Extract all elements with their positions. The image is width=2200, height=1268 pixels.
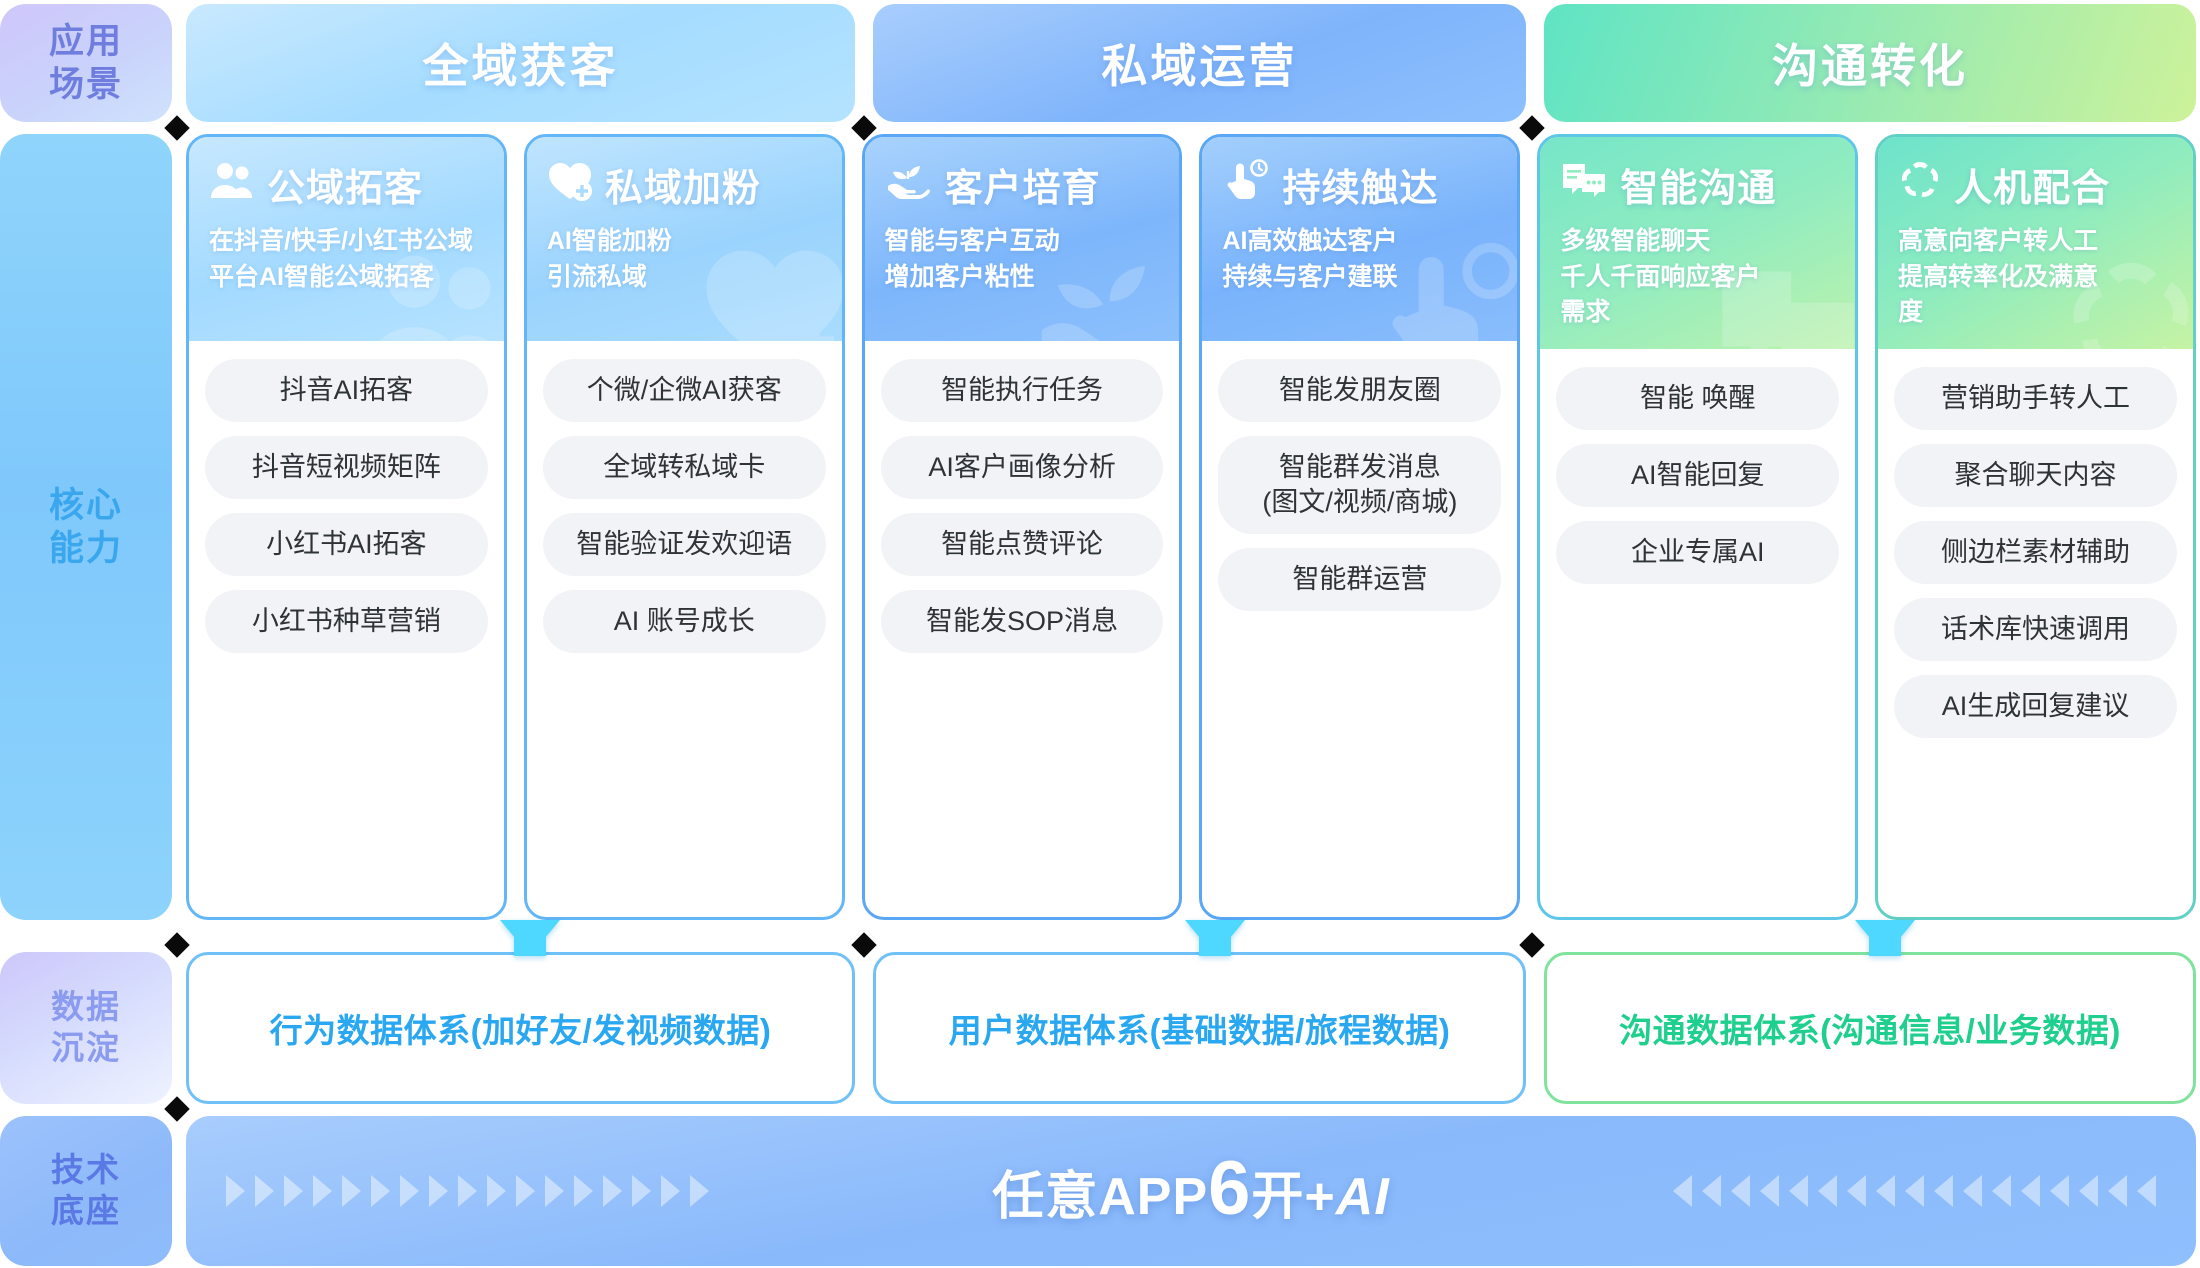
- capability-column-3[interactable]: 客户培育 智能与客户互动增加客户粘性 智能执行任务 AI客户画像分析 智能点赞评…: [862, 134, 1183, 920]
- tech-suffix: AI: [1336, 1167, 1390, 1227]
- pill-list-4: 智能发朋友圈 智能群发消息(图文/视频/商城) 智能群运营: [1202, 341, 1517, 917]
- chevron-left-icon: [2108, 1175, 2127, 1207]
- pill-list-5: 智能 唤醒 AI智能回复 企业专属AI: [1540, 349, 1855, 918]
- column-title-row-6: 人机配合: [1898, 157, 2173, 212]
- pill-item[interactable]: AI客户画像分析: [881, 436, 1164, 499]
- column-title-row-5: 智能沟通: [1560, 157, 1835, 212]
- rail-data-line2: 沉淀: [51, 1028, 121, 1069]
- column-title-row-3: 客户培育: [885, 157, 1160, 212]
- scene-label-3: 沟通转化: [1772, 30, 1968, 96]
- chevron-left-icon: [1818, 1175, 1837, 1207]
- chevron-left-icon: [1673, 1175, 1692, 1207]
- pill-list-2: 个微/企微AI获客 全域转私域卡 智能验证发欢迎语 AI 账号成长: [527, 341, 842, 917]
- chevron-right-icon: [690, 1175, 709, 1207]
- people-icon: [209, 160, 255, 210]
- chevron-right-icon: [429, 1175, 448, 1207]
- chevron-left-icon: [1963, 1175, 1982, 1207]
- rail-label-core: 核心 能力: [0, 134, 172, 920]
- chevron-left-icon: [2079, 1175, 2098, 1207]
- pill-item[interactable]: 抖音短视频矩阵: [205, 436, 488, 499]
- column-desc-1: 在抖音/快手/小红书公域平台AI智能公域拓客: [209, 224, 484, 295]
- chevron-left-icon: [1760, 1175, 1779, 1207]
- scene-label-2: 私域运营: [1102, 30, 1298, 96]
- data-layer-row: 行为数据体系(加好友/发视频数据) 用户数据体系(基础数据/旅程数据) 沟通数据…: [186, 952, 2196, 1104]
- chevron-right-icon: [284, 1175, 303, 1207]
- data-label-3: 沟通数据体系(沟通信息/业务数据): [1619, 1004, 2121, 1052]
- column-title-5: 智能沟通: [1620, 157, 1776, 212]
- capability-column-4[interactable]: 持续触达 AI高效触达客户持续与客户建联 智能发朋友圈 智能群发消息(图文/视频…: [1199, 134, 1520, 920]
- column-header-3: 客户培育 智能与客户互动增加客户粘性: [865, 137, 1180, 341]
- pill-list-1: 抖音AI拓客 抖音短视频矩阵 小红书AI拓客 小红书种草营销: [189, 341, 504, 917]
- chat-bubbles-icon: [1560, 160, 1608, 210]
- capability-column-2[interactable]: 私域加粉 AI智能加粉引流私域 个微/企微AI获客 全域转私域卡 智能验证发欢迎…: [524, 134, 845, 920]
- chevron-right-icon: [458, 1175, 477, 1207]
- chevron-right-icon: [487, 1175, 506, 1207]
- pill-item[interactable]: 侧边栏素材辅助: [1894, 521, 2177, 584]
- chevron-left-icon: [1847, 1175, 1866, 1207]
- pill-item[interactable]: 小红书种草营销: [205, 590, 488, 653]
- column-title-3: 客户培育: [945, 157, 1101, 212]
- chevron-right-icon: [632, 1175, 651, 1207]
- pill-item[interactable]: 智能点赞评论: [881, 513, 1164, 576]
- column-title-row-1: 公域拓客: [209, 157, 484, 212]
- tech-mid: 开+: [1251, 1154, 1335, 1229]
- tech-base-title: 任意APP6开+AI: [992, 1154, 1390, 1229]
- chevron-left-icon: [2137, 1175, 2156, 1207]
- chevron-right-icon: [313, 1175, 332, 1207]
- rail-core-line1: 核心: [49, 484, 123, 527]
- column-desc-4: AI高效触达客户持续与客户建联: [1222, 224, 1497, 295]
- rail-label-data: 数据 沉淀: [0, 952, 172, 1104]
- chevron-right-icon: [255, 1175, 274, 1207]
- chevron-left-icon: [1934, 1175, 1953, 1207]
- pill-item[interactable]: 智能群运营: [1218, 548, 1501, 611]
- column-title-1: 公域拓客: [267, 157, 423, 212]
- pill-item[interactable]: 智能执行任务: [881, 359, 1164, 422]
- data-label-1: 行为数据体系(加好友/发视频数据): [270, 1004, 772, 1052]
- capability-column-1[interactable]: 公域拓客 在抖音/快手/小红书公域平台AI智能公域拓客 抖音AI拓客 抖音短视频…: [186, 134, 507, 920]
- chevron-right-icon: [371, 1175, 390, 1207]
- pill-item[interactable]: 聚合聊天内容: [1894, 444, 2177, 507]
- column-header-2: 私域加粉 AI智能加粉引流私域: [527, 137, 842, 341]
- chevron-right-icon: [516, 1175, 535, 1207]
- hands-recycle-icon: [1898, 160, 1942, 210]
- flow-arrow-down: [500, 920, 560, 956]
- rail-scene-line2: 场景: [49, 63, 123, 106]
- column-header-5: 智能沟通 多级智能聊天千人千面响应客户需求: [1540, 137, 1855, 349]
- pill-item[interactable]: AI 账号成长: [543, 590, 826, 653]
- flow-arrow-down: [1185, 920, 1245, 956]
- architecture-diagram: 应用 场景 核心 能力 数据 沉淀 技术 底座 全域获客 私域运营: [0, 0, 2200, 1268]
- scene-label-1: 全域获客: [423, 30, 619, 96]
- chevron-band-left: [1673, 1175, 2156, 1207]
- column-desc-3: 智能与客户互动增加客户粘性: [885, 224, 1160, 295]
- data-card-2[interactable]: 用户数据体系(基础数据/旅程数据): [873, 952, 1526, 1104]
- column-desc-6: 高意向客户转人工提高转率化及满意度: [1898, 224, 2173, 331]
- capability-column-6[interactable]: 人机配合 高意向客户转人工提高转率化及满意度 营销助手转人工 聚合聊天内容 侧边: [1875, 134, 2196, 920]
- pill-item[interactable]: 小红书AI拓客: [205, 513, 488, 576]
- chevron-left-icon: [1789, 1175, 1808, 1207]
- sprout-hand-icon: [885, 160, 933, 210]
- column-header-6: 人机配合 高意向客户转人工提高转率化及满意度: [1878, 137, 2193, 349]
- chevron-right-icon: [400, 1175, 419, 1207]
- rail-label-scene: 应用 场景: [0, 4, 172, 122]
- rail-core-line2: 能力: [49, 527, 123, 570]
- rail-scene-line1: 应用: [49, 20, 123, 63]
- pill-item[interactable]: 智能发SOP消息: [881, 590, 1164, 653]
- column-title-row-2: 私域加粉: [547, 157, 822, 212]
- chevron-left-icon: [2050, 1175, 2069, 1207]
- rail-tech-line2: 底座: [51, 1191, 121, 1232]
- pill-list-6: 营销助手转人工 聚合聊天内容 侧边栏素材辅助 话术库快速调用 AI生成回复建议: [1878, 349, 2193, 918]
- capability-column-row: 公域拓客 在抖音/快手/小红书公域平台AI智能公域拓客 抖音AI拓客 抖音短视频…: [186, 134, 2196, 920]
- scene-header-row: 全域获客 私域运营 沟通转化: [186, 4, 2196, 122]
- data-card-1[interactable]: 行为数据体系(加好友/发视频数据): [186, 952, 855, 1104]
- scene-card-2[interactable]: 私域运营: [873, 4, 1526, 122]
- capability-column-5[interactable]: 智能沟通 多级智能聊天千人千面响应客户需求 智能 唤醒 AI智能回复 企业专属A…: [1537, 134, 1858, 920]
- chevron-band-right: [226, 1175, 709, 1207]
- data-label-2: 用户数据体系(基础数据/旅程数据): [949, 1004, 1451, 1052]
- rail-label-tech: 技术 底座: [0, 1116, 172, 1266]
- pill-item[interactable]: 智能 唤醒: [1556, 367, 1839, 430]
- heart-plus-icon: [547, 159, 593, 211]
- pill-item[interactable]: 营销助手转人工: [1894, 367, 2177, 430]
- data-card-3[interactable]: 沟通数据体系(沟通信息/业务数据): [1544, 952, 2196, 1104]
- tech-big-number: 6: [1208, 1155, 1251, 1223]
- chevron-left-icon: [1731, 1175, 1750, 1207]
- chevron-left-icon: [1876, 1175, 1895, 1207]
- pill-item[interactable]: 智能群发消息(图文/视频/商城): [1218, 436, 1501, 534]
- chevron-right-icon: [661, 1175, 680, 1207]
- pill-item[interactable]: 智能验证发欢迎语: [543, 513, 826, 576]
- scene-card-3[interactable]: 沟通转化: [1544, 4, 2196, 122]
- pill-item[interactable]: 智能发朋友圈: [1218, 359, 1501, 422]
- flow-arrow-down: [1855, 920, 1915, 956]
- chevron-left-icon: [1992, 1175, 2011, 1207]
- chevron-left-icon: [1905, 1175, 1924, 1207]
- pill-item[interactable]: AI生成回复建议: [1894, 675, 2177, 738]
- column-header-1: 公域拓客 在抖音/快手/小红书公域平台AI智能公域拓客: [189, 137, 504, 341]
- pill-item[interactable]: 全域转私域卡: [543, 436, 826, 499]
- pill-list-3: 智能执行任务 AI客户画像分析 智能点赞评论 智能发SOP消息: [865, 341, 1180, 917]
- pill-item[interactable]: AI智能回复: [1556, 444, 1839, 507]
- pill-item[interactable]: 个微/企微AI获客: [543, 359, 826, 422]
- tech-base-bar[interactable]: 任意APP6开+AI: [186, 1116, 2196, 1266]
- column-title-6: 人机配合: [1954, 157, 2110, 212]
- rail-data-line1: 数据: [51, 987, 121, 1028]
- pill-item[interactable]: 话术库快速调用: [1894, 598, 2177, 661]
- column-title-4: 持续触达: [1282, 157, 1438, 212]
- column-title-row-4: 持续触达: [1222, 157, 1497, 212]
- column-desc-2: AI智能加粉引流私域: [547, 224, 822, 295]
- chevron-right-icon: [574, 1175, 593, 1207]
- column-header-4: 持续触达 AI高效触达客户持续与客户建联: [1202, 137, 1517, 341]
- chevron-left-icon: [1702, 1175, 1721, 1207]
- rail-tech-line1: 技术: [51, 1150, 121, 1191]
- chevron-right-icon: [545, 1175, 564, 1207]
- chevron-right-icon: [603, 1175, 622, 1207]
- tech-prefix: 任意APP: [992, 1154, 1208, 1229]
- chevron-left-icon: [2021, 1175, 2040, 1207]
- chevron-right-icon: [226, 1175, 245, 1207]
- tap-clock-icon: [1222, 159, 1270, 211]
- scene-card-1[interactable]: 全域获客: [186, 4, 855, 122]
- column-title-2: 私域加粉: [605, 157, 761, 212]
- pill-item[interactable]: 抖音AI拓客: [205, 359, 488, 422]
- pill-item[interactable]: 企业专属AI: [1556, 521, 1839, 584]
- column-desc-5: 多级智能聊天千人千面响应客户需求: [1560, 224, 1835, 331]
- chevron-right-icon: [342, 1175, 361, 1207]
